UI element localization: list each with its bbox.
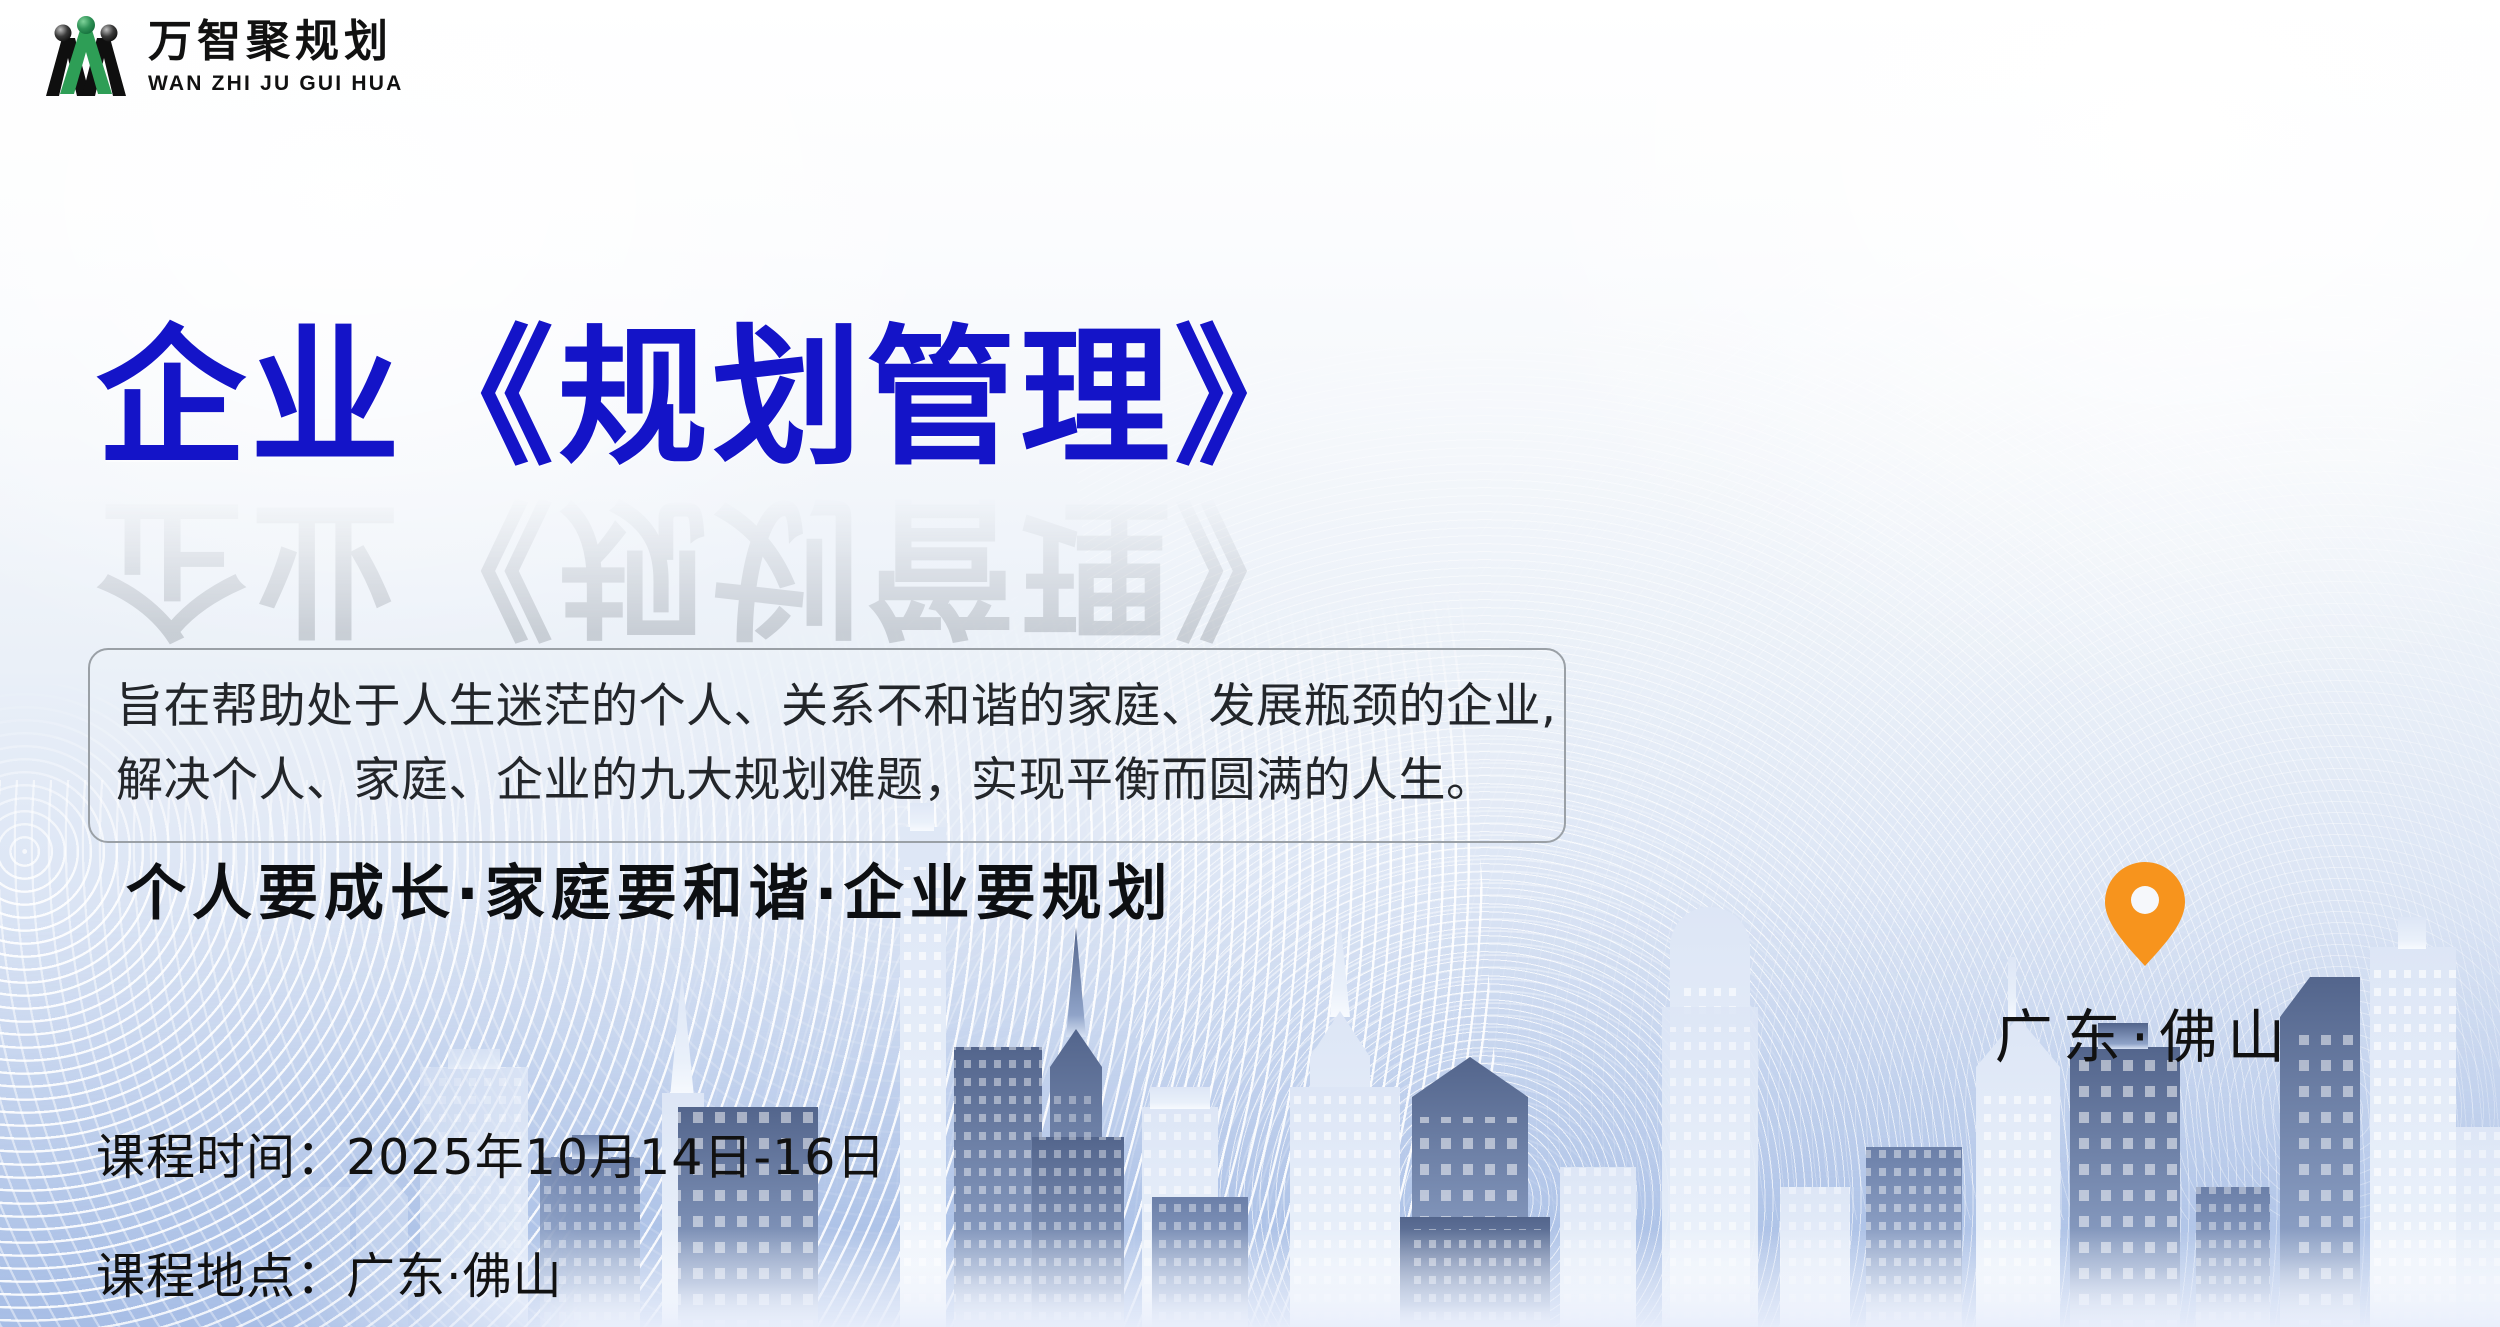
location-badge: 广东·佛山 (1955, 860, 2335, 1074)
three-people-mountain-logo-icon (38, 14, 134, 100)
location-label: 广东·佛山 (1955, 990, 2335, 1074)
brand-name-pinyin: WAN ZHI JU GUI HUA (148, 73, 403, 94)
course-info: 课程时间：2025年10月14日-16日 课程地点：广东·佛山 (96, 1118, 886, 1308)
description-line-2: 解决个人、家庭、企业的九大规划难题，实现平衡而圆满的人生。 (116, 744, 1538, 818)
description-box: 旨在帮助处于人生迷茫的个人、关系不和谐的家庭、发展瓶颈的企业, 解决个人、家庭、… (88, 648, 1566, 843)
headline-block: 企业《规划管理》 企业《规划管理》 (96, 318, 1656, 646)
page-title: 企业《规划管理》 (96, 318, 1656, 480)
page-title-reflection: 企业《规划管理》 (96, 484, 1656, 646)
poster-banner: 万智聚规划 WAN ZHI JU GUI HUA 企业《规划管理》 企业《规划管… (0, 0, 2500, 1327)
map-pin-icon (2103, 860, 2187, 968)
tagline: 个人要成长·家庭要和谐·企业要规划 (126, 845, 1174, 932)
description-line-1: 旨在帮助处于人生迷茫的个人、关系不和谐的家庭、发展瓶颈的企业, (116, 670, 1538, 744)
brand-logo: 万智聚规划 WAN ZHI JU GUI HUA (38, 14, 403, 100)
course-place: 课程地点：广东·佛山 (96, 1237, 886, 1308)
brand-name-cn: 万智聚规划 (148, 20, 403, 64)
course-time: 课程时间：2025年10月14日-16日 (96, 1118, 886, 1189)
